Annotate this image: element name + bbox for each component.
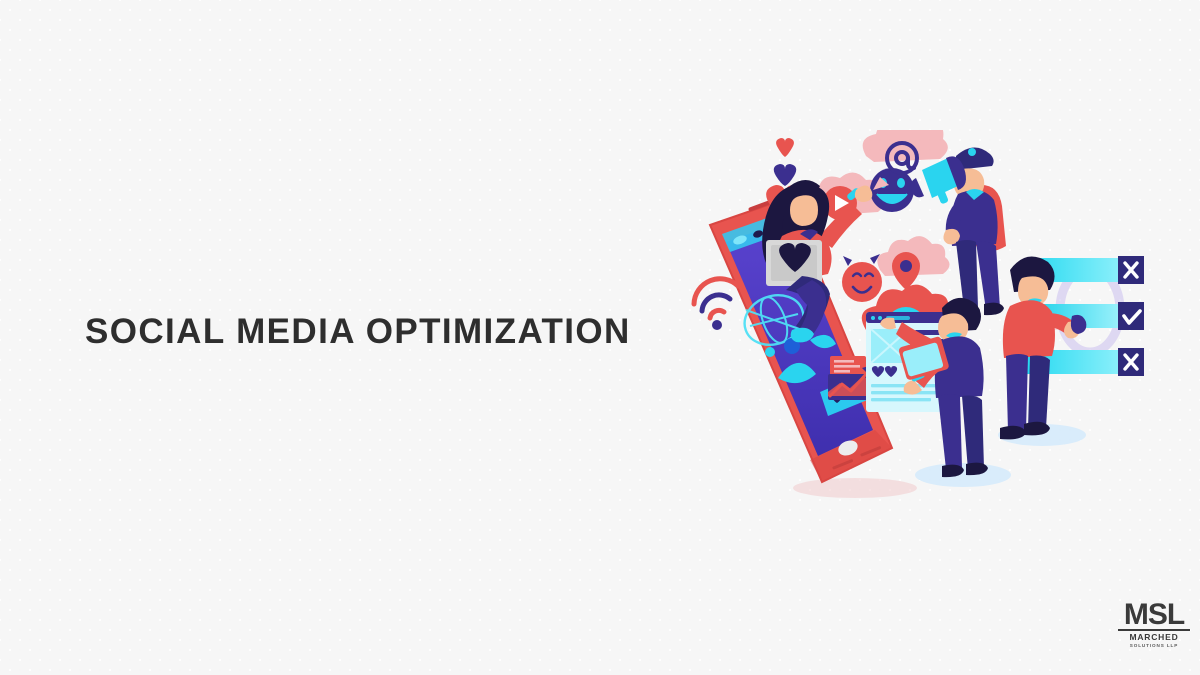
wifi-icon [694,279,738,330]
page-title: SOCIAL MEDIA OPTIMIZATION [85,314,631,349]
company-logo: MSL MARCHED SOLUTIONS LLP [1118,598,1190,660]
slide-canvas: SOCIAL MEDIA OPTIMIZATION [0,0,1200,675]
logo-monogram-mark: MSL [1118,598,1190,632]
devil-emoji [842,254,882,302]
social-media-optimization-illustration [670,130,1170,520]
logo-tagline: SOLUTIONS LLP [1118,643,1190,648]
smiley-emoji [870,168,914,212]
logo-monogram-text: MSL [1124,598,1184,631]
